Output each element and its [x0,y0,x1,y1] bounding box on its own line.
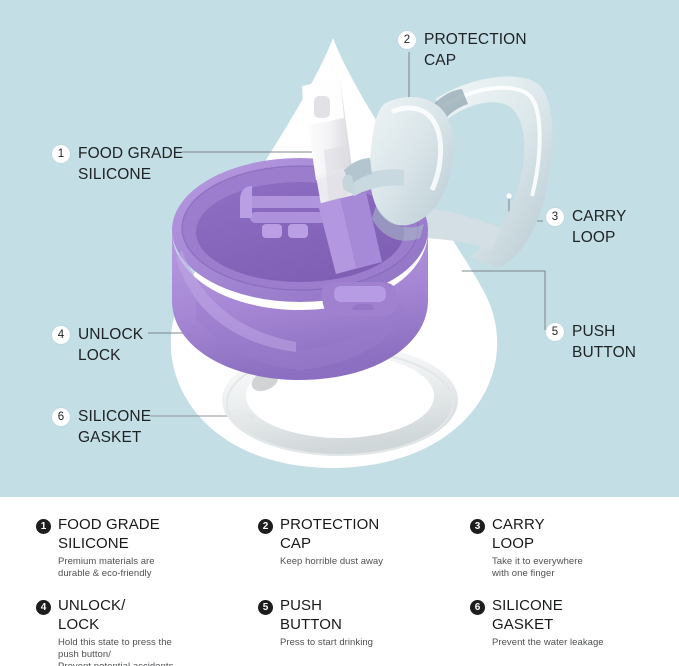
legend-marker-5: 5 [258,600,273,615]
legend-item-protection-cap[interactable]: 2 PROTECTION CAP Keep horrible dust away [258,515,470,580]
legend-title-5: PUSH BUTTON [280,596,373,634]
legend-item-carry-loop[interactable]: 3 CARRY LOOP Take it to everywhere with … [470,515,656,580]
legend-marker-1: 1 [36,519,51,534]
legend-desc-5: Press to start drinking [280,637,373,649]
legend-title-6: SILICONE GASKET [492,596,604,634]
callout-label-2: PROTECTION CAP [424,29,527,71]
callout-label-6: SILICONE GASKET [78,406,151,448]
callout-marker-2: 2 [398,31,416,49]
infographic-root: 1 FOOD GRADE SILICONE 2 PROTECTION CAP 3… [0,0,679,666]
callout-label-5: PUSH BUTTON [572,321,636,363]
callout-marker-6: 6 [52,408,70,426]
callout-label-1: FOOD GRADE SILICONE [78,143,183,185]
callout-label-3: CARRY LOOP [572,206,626,248]
push-button-part [322,282,396,316]
callout-marker-1: 1 [52,145,70,163]
legend-title-3: CARRY LOOP [492,515,583,553]
legend-marker-4: 4 [36,600,51,615]
hero-panel: 1 FOOD GRADE SILICONE 2 PROTECTION CAP 3… [0,0,679,497]
legend-desc-2: Keep horrible dust away [280,556,383,568]
legend-item-push-button[interactable]: 5 PUSH BUTTON Press to start drinking [258,596,470,666]
legend-title-4: UNLOCK/ LOCK [58,596,173,634]
legend-grid: 1 FOOD GRADE SILICONE Premium materials … [36,515,656,666]
legend-title-2: PROTECTION CAP [280,515,383,553]
callout-food-grade-silicone[interactable]: 1 FOOD GRADE SILICONE [52,143,183,185]
legend-item-unlock-lock[interactable]: 4 UNLOCK/ LOCK Hold this state to press … [36,596,258,666]
callout-label-4: UNLOCK LOCK [78,324,143,366]
legend-desc-3: Take it to everywhere with one finger [492,556,583,580]
legend-item-food-grade-silicone[interactable]: 1 FOOD GRADE SILICONE Premium materials … [36,515,258,580]
callout-marker-5: 5 [546,323,564,341]
legend-marker-2: 2 [258,519,273,534]
legend-panel: 1 FOOD GRADE SILICONE Premium materials … [0,497,679,666]
callout-push-button[interactable]: 5 PUSH BUTTON [546,321,636,363]
legend-desc-1: Premium materials are durable & eco-frie… [58,556,160,580]
legend-desc-4: Hold this state to press the push button… [58,637,173,666]
callout-marker-4: 4 [52,326,70,344]
callout-marker-3: 3 [546,208,564,226]
legend-item-silicone-gasket[interactable]: 6 SILICONE GASKET Prevent the water leak… [470,596,656,666]
legend-desc-6: Prevent the water leakage [492,637,604,649]
legend-marker-3: 3 [470,519,485,534]
callout-protection-cap[interactable]: 2 PROTECTION CAP [398,29,527,71]
legend-marker-6: 6 [470,600,485,615]
legend-title-1: FOOD GRADE SILICONE [58,515,160,553]
callout-unlock-lock[interactable]: 4 UNLOCK LOCK [52,324,143,366]
callout-carry-loop[interactable]: 3 CARRY LOOP [546,206,626,248]
callout-silicone-gasket[interactable]: 6 SILICONE GASKET [52,406,151,448]
